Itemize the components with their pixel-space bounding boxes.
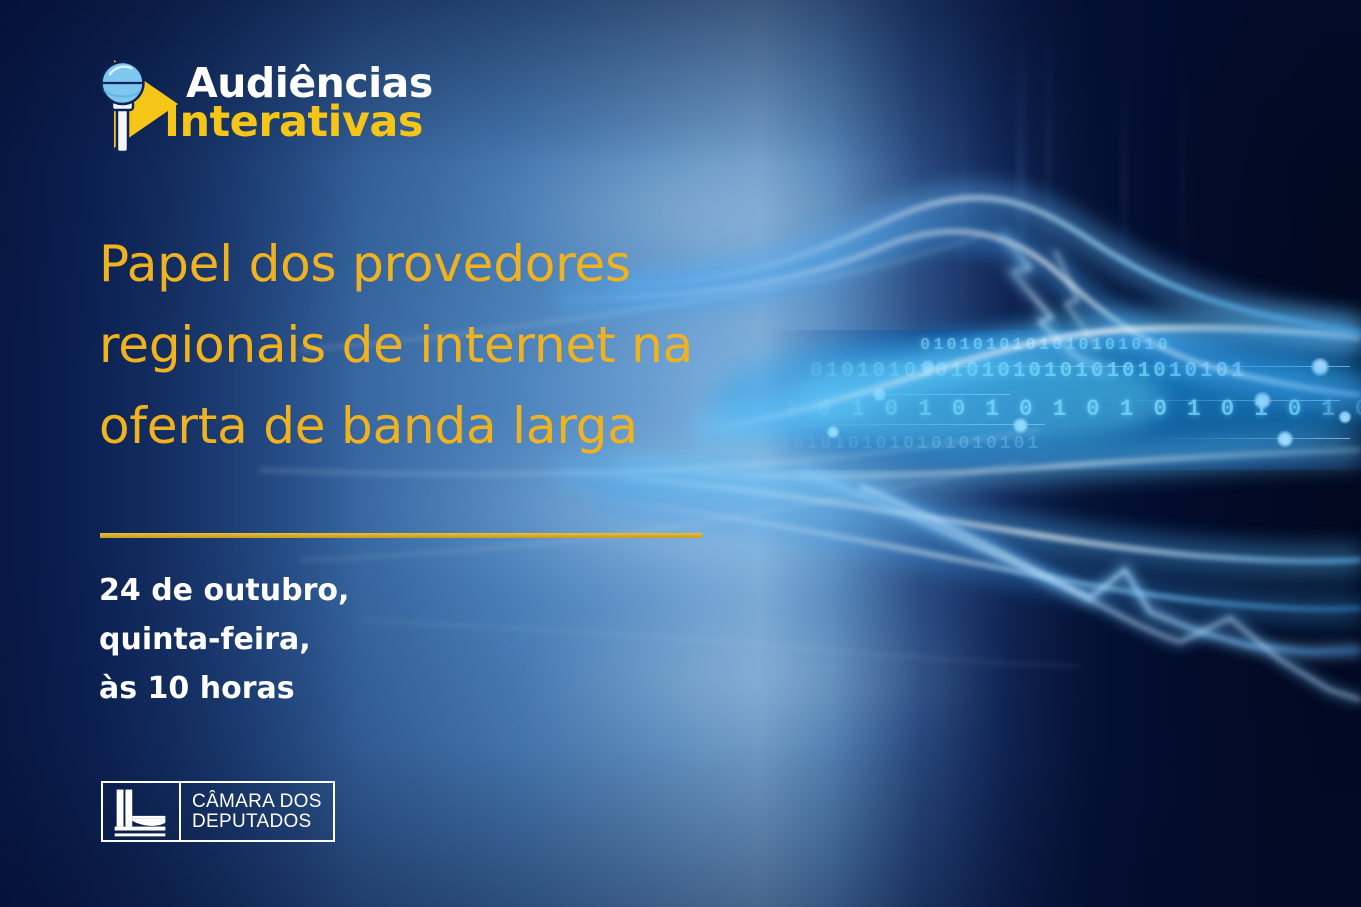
date-line-1: 24 de outubro, [99, 567, 349, 616]
date-line-3: às 10 horas [99, 665, 349, 714]
camara-line-1: CÂMARA DOS [192, 792, 333, 812]
event-datetime: 24 de outubro, quinta-feira, às 10 horas [99, 567, 349, 714]
camara-line-2: DEPUTADOS [192, 812, 333, 832]
event-poster: 0101010101010101010 01010101010101010101… [0, 0, 1361, 907]
title-line-2: regionais de internet na [99, 305, 759, 386]
camara-wordmark: CÂMARA DOS DEPUTADOS [181, 783, 333, 840]
logo-wordmark: Audiências Interativas [186, 64, 433, 142]
date-line-2: quinta-feira, [99, 616, 349, 665]
title-line-1: Papel dos provedores [99, 224, 759, 305]
event-title: Papel dos provedores regionais de intern… [99, 224, 759, 467]
logo-line-interativas: Interativas [164, 102, 433, 142]
audiencias-interativas-logo: Audiências Interativas [86, 52, 506, 167]
camara-mark-cell [103, 783, 181, 840]
title-line-3: oferta de banda larga [99, 386, 759, 467]
gold-divider [100, 533, 702, 538]
camara-dos-deputados-logo: CÂMARA DOS DEPUTADOS [101, 781, 335, 842]
congress-building-icon [103, 783, 179, 840]
